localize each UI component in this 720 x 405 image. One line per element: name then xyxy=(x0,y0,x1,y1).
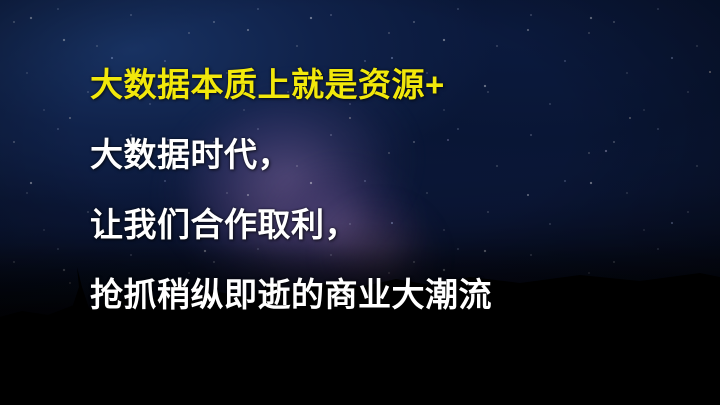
slide-body-line-1: 大数据时代， xyxy=(90,138,690,171)
slide-body-line-2: 让我们合作取利， xyxy=(90,208,690,241)
slide-headline-line: 大数据本质上就是资源+ xyxy=(90,68,690,101)
slide-body-line-3: 抢抓稍纵即逝的商业大潮流 xyxy=(90,278,690,311)
slide-text-block: 大数据本质上就是资源+ 大数据时代， 让我们合作取利， 抢抓稍纵即逝的商业大潮流 xyxy=(90,68,690,311)
presentation-slide: 大数据本质上就是资源+ 大数据时代， 让我们合作取利， 抢抓稍纵即逝的商业大潮流 xyxy=(0,0,720,405)
